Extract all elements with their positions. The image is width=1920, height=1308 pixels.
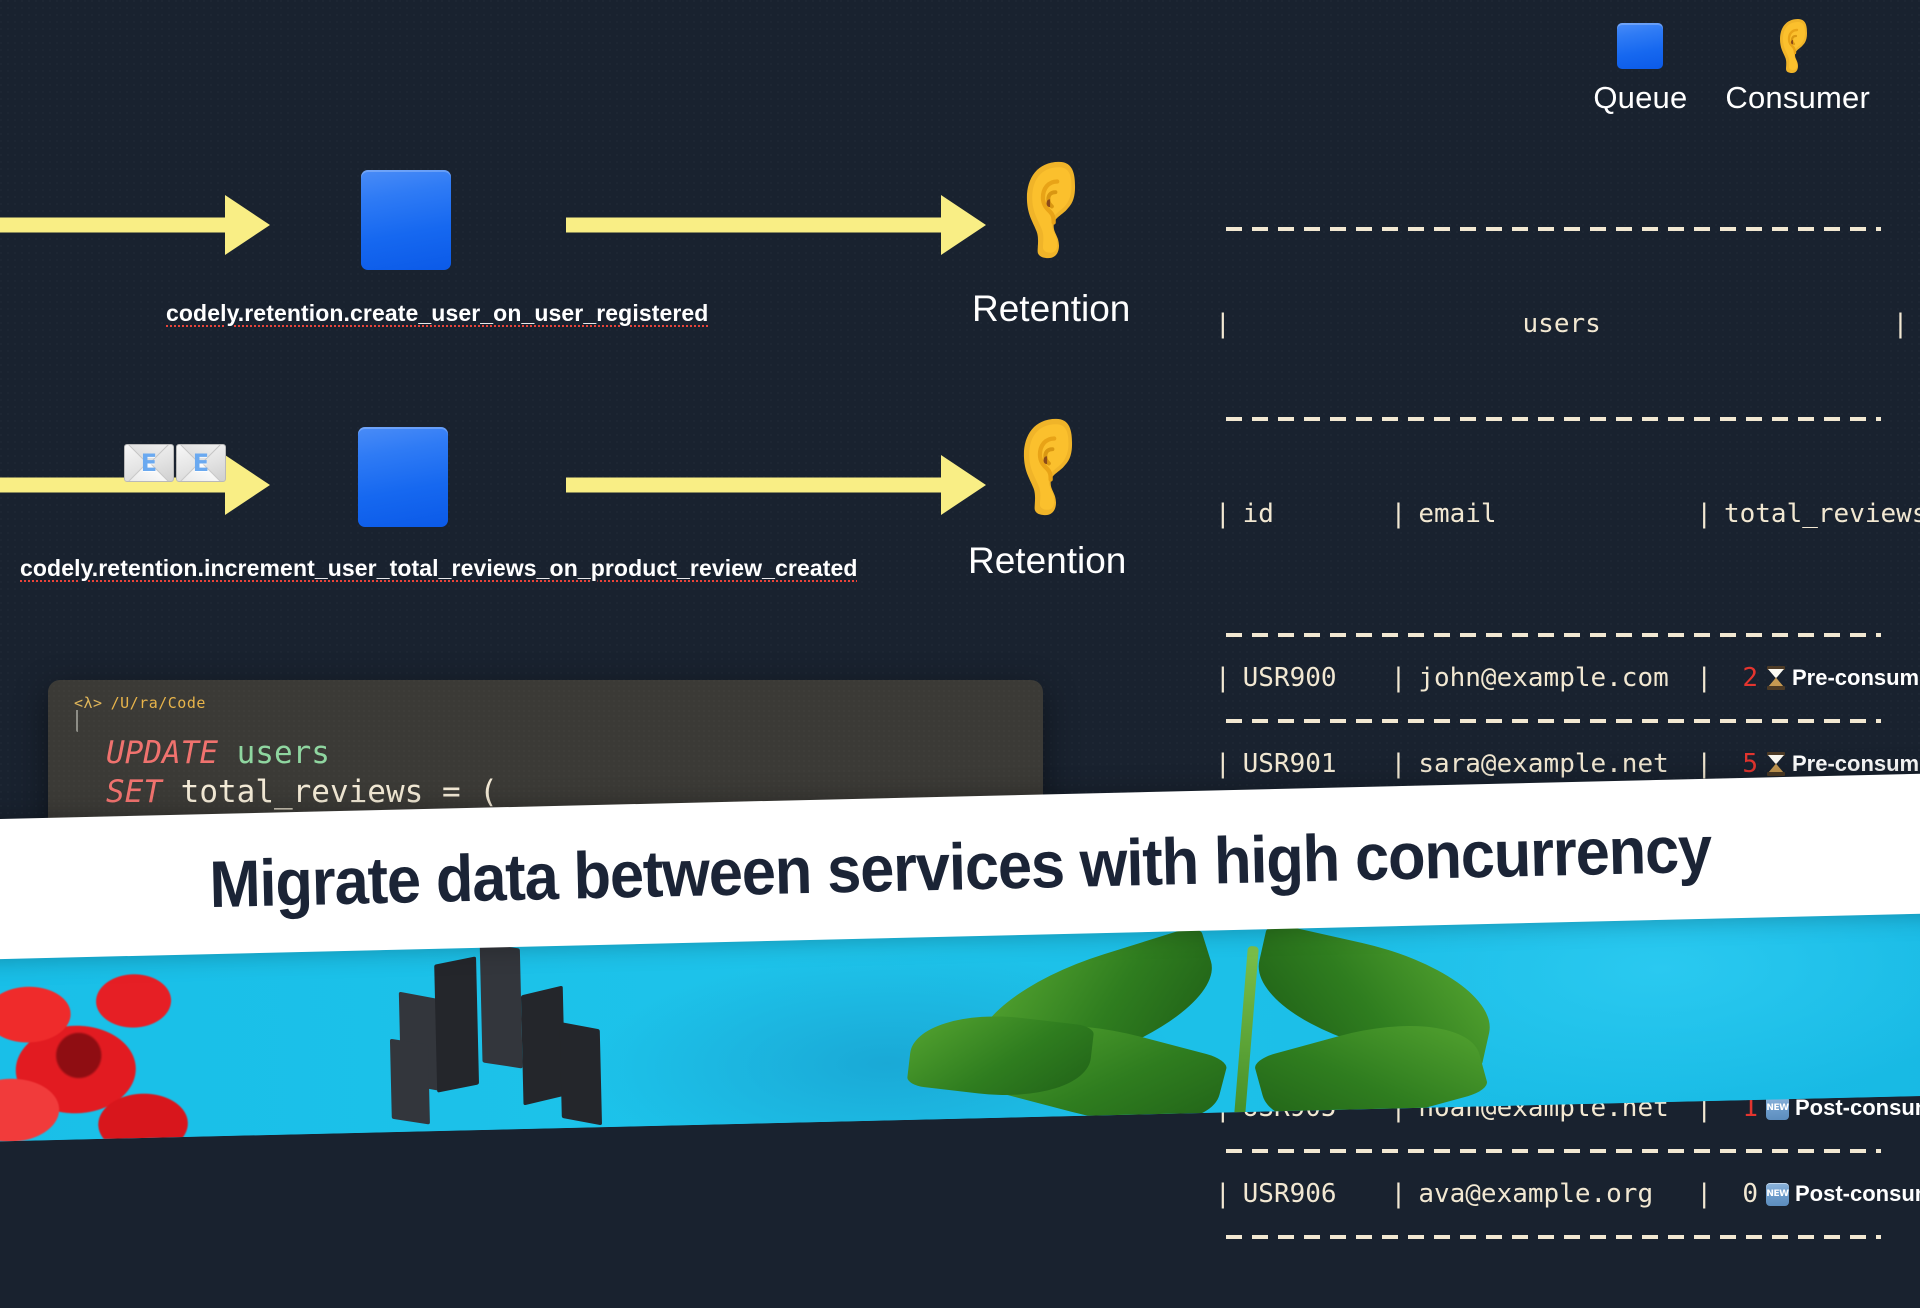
consumer-node-1[interactable] (1018, 158, 1100, 262)
hourglass-icon (1766, 752, 1786, 776)
envelope-letter: E (125, 445, 173, 481)
arrow-in-1 (0, 195, 270, 255)
sql-keyword: SET (106, 774, 162, 810)
sql-rest: users (218, 735, 330, 771)
cell-border: | (1391, 1181, 1407, 1207)
cell-id: USR900 (1231, 665, 1391, 691)
table-rule (1215, 1134, 1920, 1168)
cell-border: | (1696, 665, 1712, 691)
consumer-label-2: Retention (968, 540, 1126, 582)
new-badge-icon: NEW (1766, 1183, 1789, 1206)
sql-rest: total_reviews = ( (162, 774, 498, 810)
cell-phase-tag: Post-consumer (1795, 1183, 1920, 1205)
arrow-out-2 (566, 455, 986, 515)
cell-total-reviews: 5 (1724, 751, 1758, 777)
table-border-right: | (1893, 311, 1909, 337)
cell-border: | (1215, 1181, 1231, 1207)
legend-label-queue: Queue (1593, 80, 1687, 116)
ear-icon (1775, 16, 1821, 76)
legend-item-consumer: Consumer (1725, 16, 1870, 116)
cell-border: | (1215, 751, 1231, 777)
table-rule-top (1215, 212, 1920, 246)
cell-email: sara@example.net (1406, 751, 1696, 777)
cell-phase-tag: Pre-consumer (1792, 667, 1920, 689)
legend-label-consumer: Consumer (1725, 80, 1870, 116)
ear-icon-svg (1018, 158, 1100, 262)
hourglass-icon (1766, 666, 1786, 690)
table-title-row: | users | (1215, 298, 1920, 350)
queue-node-1[interactable] (361, 170, 451, 270)
cell-phase-tag: Post-consumer (1795, 1097, 1920, 1119)
cell-border: | (1696, 751, 1712, 777)
consumer-label-1: Retention (972, 288, 1130, 330)
cell-border: | (1215, 665, 1231, 691)
arrow-out-1 (566, 195, 986, 255)
table-rule-bottom (1215, 1220, 1920, 1254)
cell-email: ava@example.org (1406, 1181, 1696, 1207)
sql-line-2: SET total_reviews = ( (106, 773, 498, 812)
blue-square-icon (1617, 16, 1663, 76)
cell-border: | (1391, 751, 1407, 777)
cell-phase-tag: Pre-consumer (1792, 753, 1920, 775)
sql-keyword: UPDATE (106, 735, 218, 771)
cell-email: john@example.com (1406, 665, 1696, 691)
table-row[interactable]: |USR900|john@example.com|2Pre-consumer| (1215, 652, 1920, 704)
column-header-id: id (1231, 501, 1391, 527)
table-row[interactable]: |USR906|ava@example.org|0NEWPost-consume… (1215, 1168, 1920, 1220)
queue-label-2: codely.retention.increment_user_total_re… (20, 555, 858, 582)
prompt-tail-decoration (76, 710, 78, 732)
new-badge-icon: NEW (1766, 1097, 1789, 1120)
cell-id: USR906 (1231, 1181, 1391, 1207)
table-title: users (1231, 311, 1893, 337)
table-rule (1215, 618, 1920, 652)
cell-id: USR901 (1231, 751, 1391, 777)
cell-border: | (1696, 1181, 1712, 1207)
banner-title: Migrate data between services with high … (208, 811, 1711, 922)
prompt-symbol: <λ> (74, 694, 103, 712)
cell-border: | (1391, 665, 1407, 691)
black-blocks-graphic (387, 926, 672, 1142)
legend: Queue Consumer (1593, 16, 1870, 116)
table-rule (1215, 704, 1920, 738)
event-envelope-icon-2: E (176, 444, 226, 482)
envelope-letter: E (177, 445, 225, 481)
sql-line-1: UPDATE users (106, 734, 498, 773)
legend-item-queue: Queue (1593, 16, 1687, 116)
event-envelope-icon-1: E (124, 444, 174, 482)
consumer-node-2[interactable] (1015, 415, 1097, 519)
table-border-left: | (1215, 311, 1231, 337)
users-table: | users | | id | email | total_reviews |… (1215, 160, 1920, 1306)
column-header-total-reviews: total_reviews (1712, 501, 1920, 527)
cell-total-reviews: 0 (1724, 1181, 1758, 1207)
queue-node-2[interactable] (358, 427, 448, 527)
table-header-row: | id | email | total_reviews | (1215, 488, 1920, 540)
prompt-path: /U/ra/Code (111, 694, 206, 712)
ear-icon-svg (1775, 17, 1821, 75)
cell-total-reviews: 2 (1724, 665, 1758, 691)
terminal-prompt: <λ>/U/ra/Code (74, 694, 206, 712)
table-rule-header (1215, 402, 1920, 436)
ear-icon-svg (1015, 415, 1097, 519)
queue-label-1: codely.retention.create_user_on_user_reg… (166, 300, 708, 327)
column-header-email: email (1406, 501, 1696, 527)
slide-canvas: Queue Consumer codely.retention.create_ (0, 0, 1920, 1080)
